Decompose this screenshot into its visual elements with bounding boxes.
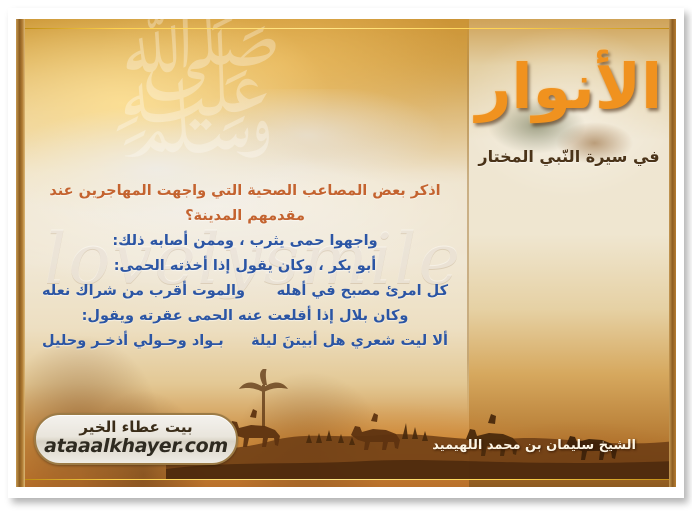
page-title: الأنوار — [469, 49, 669, 125]
text-line-3: واجهوا حمى يثرب ، وممن أصابه ذلك: — [40, 229, 450, 254]
page-subtitle: في سيرة النّبي المختار — [469, 147, 669, 166]
verse-2-hemistich-left: بـواد وحـولي أذخـر وحليل — [42, 329, 224, 354]
body-text: اذكر بعض المصاعب الصحية التي واجهت المها… — [40, 179, 450, 354]
poster-root: ﷺ lovelysmile.com الأنوار في سيرة النّبي… — [0, 0, 692, 512]
text-line-5: وكان بلال إذا أقلعت عنه الحمى عقرته ويقو… — [40, 304, 450, 329]
verse-line-2: ألا ليت شعري هل أبيتنَ ليلة بـواد وحـولي… — [40, 329, 450, 354]
verse-1-hemistich-right: كل امرئ مصبح في أهله — [277, 279, 448, 304]
artwork-frame: ﷺ lovelysmile.com الأنوار في سيرة النّبي… — [16, 19, 676, 487]
site-logo[interactable]: بيت عطاء الخير ataaalkhayer.com — [34, 413, 238, 465]
verse-line-1: كل امرئ مصبح في أهله والموت أقرب من شراك… — [40, 279, 450, 304]
site-logo-arabic: بيت عطاء الخير — [36, 418, 236, 436]
site-logo-url: ataaalkhayer.com — [36, 435, 236, 457]
verse-1-hemistich-left: والموت أقرب من شراك نعله — [42, 279, 245, 304]
text-line-2: مقدمهم المدينة؟ — [40, 204, 450, 229]
title-panel: الأنوار في سيرة النّبي المختار — [469, 19, 669, 487]
author-credit: الشيخ سليمان بن محمد اللهيميد — [432, 438, 636, 453]
text-line-4: أبو بكر ، وكان يقول إذا أخذته الحمى: — [40, 254, 450, 279]
verse-2-hemistich-right: ألا ليت شعري هل أبيتنَ ليلة — [251, 329, 448, 354]
text-line-1: اذكر بعض المصاعب الصحية التي واجهت المها… — [40, 179, 450, 204]
